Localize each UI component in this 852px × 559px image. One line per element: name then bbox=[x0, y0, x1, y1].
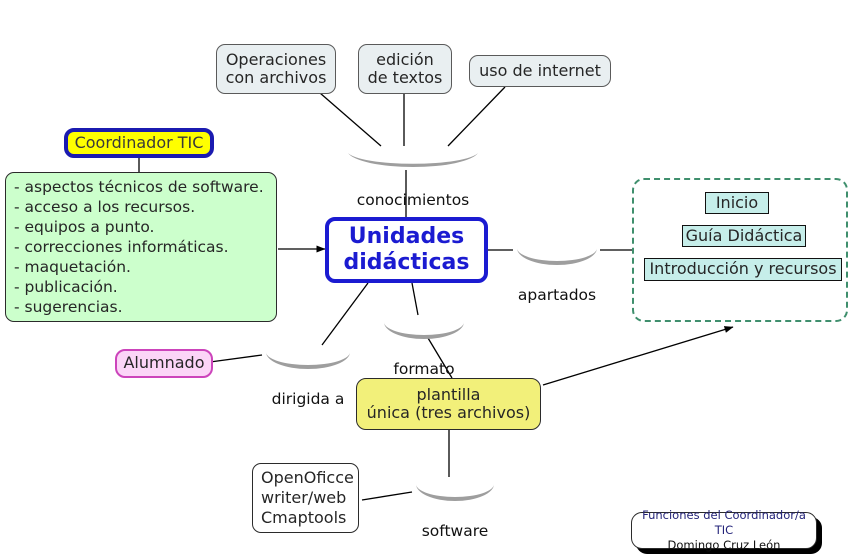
concept-map-canvas: Operaciones con archivos edición de text… bbox=[0, 0, 852, 559]
node-coordinador-label: Coordinador TIC bbox=[75, 134, 204, 152]
node-edicion-label: edición de textos bbox=[368, 51, 443, 88]
formato-text: formato bbox=[380, 362, 468, 378]
node-operaciones-label: Operaciones con archivos bbox=[226, 51, 327, 88]
node-edicion-de-textos[interactable]: edición de textos bbox=[358, 44, 452, 94]
conocimientos-text: conocimientos bbox=[343, 193, 483, 209]
node-alumnado[interactable]: Alumnado bbox=[115, 349, 213, 378]
crescent-shadow-apartados bbox=[513, 241, 601, 267]
edge-operaciones-conocimientos bbox=[320, 93, 381, 146]
node-central-label: Unidades didácticas bbox=[344, 224, 470, 276]
node-plantilla-label: plantilla única (tres archivos) bbox=[367, 386, 531, 423]
node-guia-didactica[interactable]: Guía Didáctica bbox=[682, 225, 806, 247]
link-label-software: software bbox=[412, 477, 498, 503]
footer-title: Funciones del Coordinador/a TIC bbox=[632, 508, 816, 538]
node-inicio-label: Inicio bbox=[716, 194, 758, 212]
edge-central-dirigida bbox=[322, 283, 368, 345]
edge-plantilla-container bbox=[543, 327, 733, 385]
node-funciones-list[interactable]: - aspectos técnicos de software. - acces… bbox=[5, 172, 277, 322]
footer-credit-card: Funciones del Coordinador/a TIC Domingo … bbox=[631, 512, 817, 549]
node-funciones-list-text: - aspectos técnicos de software. - acces… bbox=[14, 177, 264, 318]
node-introduccion-recursos[interactable]: Introducción y recursos bbox=[644, 258, 842, 281]
node-unidades-didacticas[interactable]: Unidades didácticas bbox=[325, 217, 488, 283]
edge-internet-conocimientos bbox=[448, 87, 505, 146]
apartados-text: apartados bbox=[513, 288, 601, 304]
node-guia-label: Guía Didáctica bbox=[686, 227, 803, 245]
edge-dirigida-alumnado bbox=[210, 355, 262, 362]
link-label-apartados: apartados bbox=[513, 241, 601, 267]
node-operaciones-con-archivos[interactable]: Operaciones con archivos bbox=[216, 44, 336, 94]
edge-central-formato bbox=[412, 283, 418, 315]
edge-software-tools bbox=[362, 492, 412, 500]
node-internet-label: uso de internet bbox=[479, 62, 601, 80]
crescent-shadow-software bbox=[412, 477, 498, 503]
link-label-formato: formato bbox=[380, 315, 468, 341]
crescent-shadow-dirigida bbox=[262, 345, 354, 371]
crescent-shadow-conocimientos bbox=[343, 146, 483, 172]
node-plantilla[interactable]: plantilla única (tres archivos) bbox=[356, 378, 541, 430]
link-label-dirigida-a: dirigida a bbox=[262, 345, 354, 371]
node-coordinador-tic[interactable]: Coordinador TIC bbox=[64, 128, 214, 158]
node-alumnado-label: Alumnado bbox=[123, 354, 204, 372]
node-software-tools-label: OpenOficce writer/web Cmaptools bbox=[261, 468, 354, 528]
dirigida-a-text: dirigida a bbox=[262, 392, 354, 408]
node-introduccion-label: Introducción y recursos bbox=[649, 260, 836, 278]
node-software-tools[interactable]: OpenOficce writer/web Cmaptools bbox=[252, 463, 359, 533]
node-inicio[interactable]: Inicio bbox=[705, 192, 769, 214]
link-label-conocimientos: conocimientos bbox=[343, 146, 483, 172]
node-uso-de-internet[interactable]: uso de internet bbox=[469, 55, 611, 87]
software-text: software bbox=[412, 524, 498, 540]
crescent-shadow-formato bbox=[380, 315, 468, 341]
footer-author: Domingo Cruz León bbox=[668, 538, 781, 553]
